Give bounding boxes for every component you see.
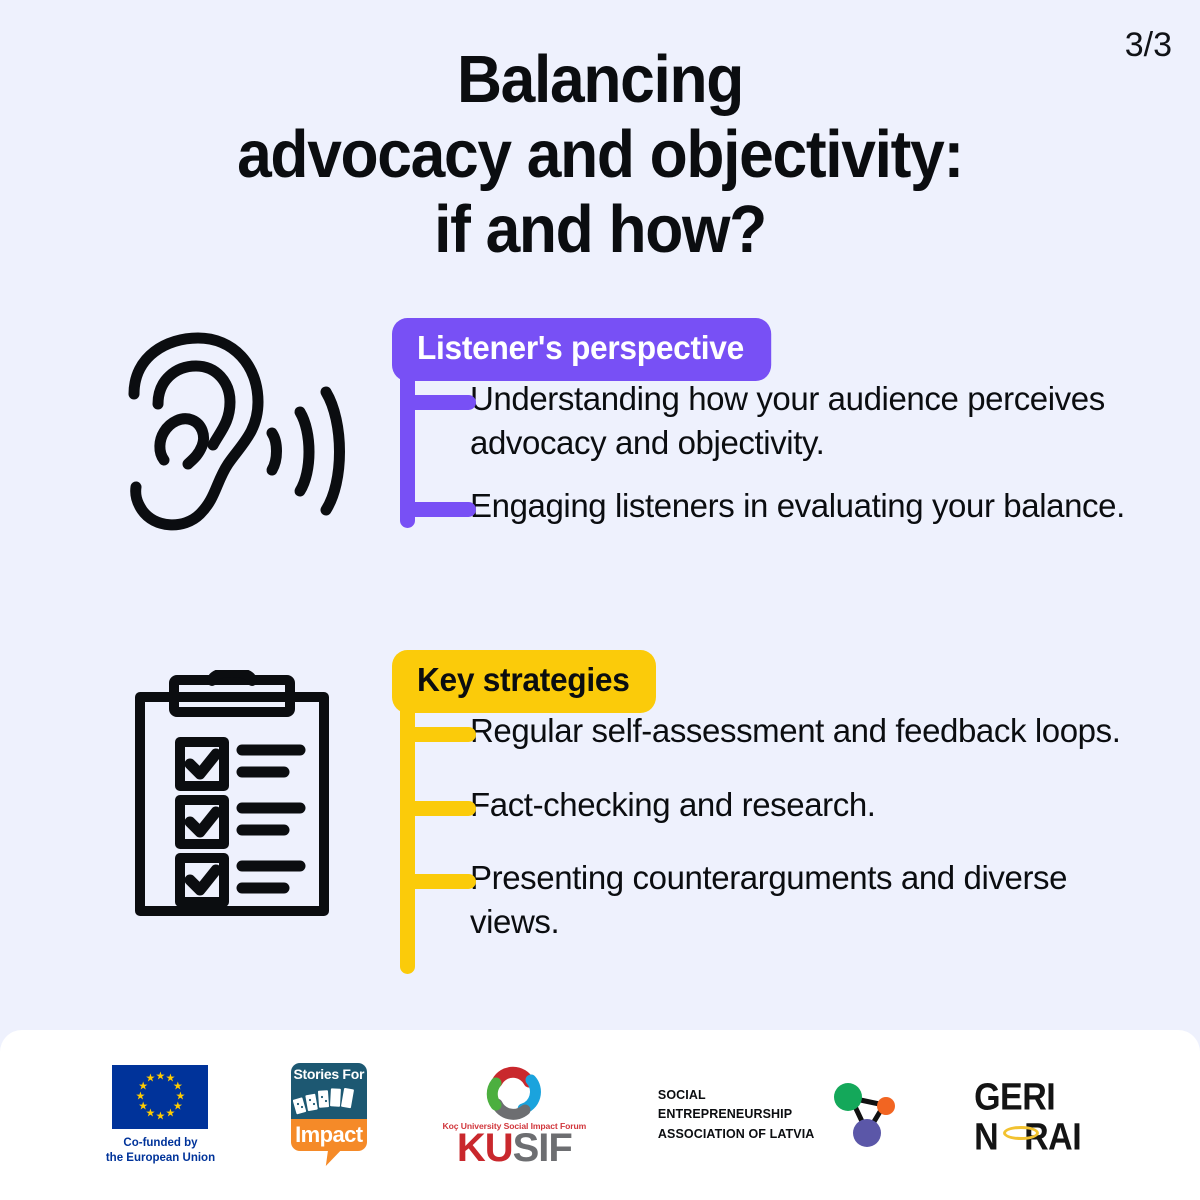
kusif-sif: SIF: [513, 1126, 572, 1170]
list-item-text: Regular self-assessment and feedback loo…: [470, 712, 1121, 749]
dominoes-icon: [293, 1085, 357, 1115]
list-item-text: Fact-checking and research.: [470, 786, 876, 823]
footer-logo-bar: ★★★★★★★★★★★★ Co-funded by the European U…: [0, 1030, 1200, 1200]
bracket-stub-yellow: [400, 727, 476, 742]
eu-star-icon: ★: [155, 1111, 166, 1122]
geri-norai-line-1: GERI: [974, 1076, 1055, 1120]
bracket-stub-yellow: [400, 801, 476, 816]
clipboard-checklist-icon-cell: [72, 650, 392, 920]
eu-star-icon: ★: [138, 1101, 149, 1112]
list-item: Fact-checking and research.: [470, 783, 1152, 857]
list-item-text: Understanding how your audience perceive…: [470, 380, 1105, 461]
kusif-logo: Koç University Social Impact Forum KUSIF: [443, 1064, 587, 1167]
list-item: Engaging listeners in evaluating your ba…: [470, 484, 1152, 528]
eu-star-icon: ★: [145, 1074, 156, 1085]
eu-cofunded-logo: ★★★★★★★★★★★★ Co-funded by the European U…: [106, 1065, 215, 1165]
infographic-slide: 3/3 Balancing advocacy and objectivity: …: [0, 0, 1200, 1200]
speech-bubble-tail-icon: [326, 1148, 341, 1168]
eu-star-icon: ★: [165, 1109, 176, 1120]
eu-flag-icon: ★★★★★★★★★★★★: [112, 1065, 208, 1129]
halo-icon: [1003, 1126, 1039, 1140]
kusif-ku: KU: [457, 1126, 513, 1170]
kusif-swirl-icon: [483, 1064, 545, 1120]
list-item: Understanding how your audience perceive…: [470, 377, 1152, 485]
clipboard-checklist-icon: [132, 670, 332, 920]
page-title: Balancing advocacy and objectivity: if a…: [42, 42, 1158, 267]
bracket-stub-purple: [400, 502, 476, 517]
bracket-stub-yellow: [400, 874, 476, 889]
eu-caption-line-2: the European Union: [106, 1151, 215, 1166]
geri-norai-logo: GERI NORAI: [972, 1074, 1094, 1156]
section-listeners-perspective: Listener's perspective Understanding how…: [72, 318, 1152, 547]
ear-listening-icon: [112, 332, 352, 547]
bracket-stub-purple: [400, 395, 476, 410]
sfi-bottom-text: Impact: [291, 1119, 367, 1151]
listener-body: Listener's perspective Understanding how…: [392, 318, 1152, 528]
seal-line-1: SOCIAL: [658, 1086, 815, 1105]
seal-line-2: ENTREPRENEURSHIP: [658, 1105, 815, 1124]
heading-pill-key-strategies: Key strategies: [392, 650, 656, 713]
list-item: Presenting counterarguments and diverse …: [470, 856, 1152, 974]
list-item-text: Engaging listeners in evaluating your ba…: [470, 487, 1125, 524]
eu-caption-line-1: Co-funded by: [106, 1136, 215, 1151]
network-nodes-icon: [826, 1080, 900, 1150]
listener-bullet-list: Understanding how your audience perceive…: [392, 377, 1152, 529]
eu-caption: Co-funded by the European Union: [106, 1136, 215, 1165]
seal-line-3: ASSOCIATION OF LATVIA: [658, 1125, 815, 1144]
title-line-1: Balancing: [42, 42, 1158, 117]
geri-norai-n: N: [974, 1116, 998, 1159]
heading-pill-listeners-perspective: Listener's perspective: [392, 318, 771, 381]
strategies-bullet-list: Regular self-assessment and feedback loo…: [392, 709, 1152, 975]
social-entrepreneurship-association-latvia-logo: SOCIAL ENTREPRENEURSHIP ASSOCIATION OF L…: [658, 1080, 901, 1150]
title-line-2: advocacy and objectivity:: [42, 117, 1158, 192]
section-key-strategies: Key strategies Regular self-assessment a…: [72, 650, 1152, 974]
eu-star-icon: ★: [135, 1091, 146, 1102]
stories-for-impact-logo: Stories For Impact: [287, 1063, 371, 1167]
strategies-body: Key strategies Regular self-assessment a…: [392, 650, 1152, 974]
list-item-text: Presenting counterarguments and diverse …: [470, 859, 1067, 940]
ear-listening-icon-cell: [72, 318, 392, 547]
kusif-wordmark: KUSIF: [457, 1129, 572, 1167]
seal-text: SOCIAL ENTREPRENEURSHIP ASSOCIATION OF L…: [658, 1086, 815, 1144]
bracket-spine-yellow: [400, 709, 415, 975]
list-item: Regular self-assessment and feedback loo…: [470, 709, 1152, 783]
title-line-3: if and how?: [42, 192, 1158, 267]
